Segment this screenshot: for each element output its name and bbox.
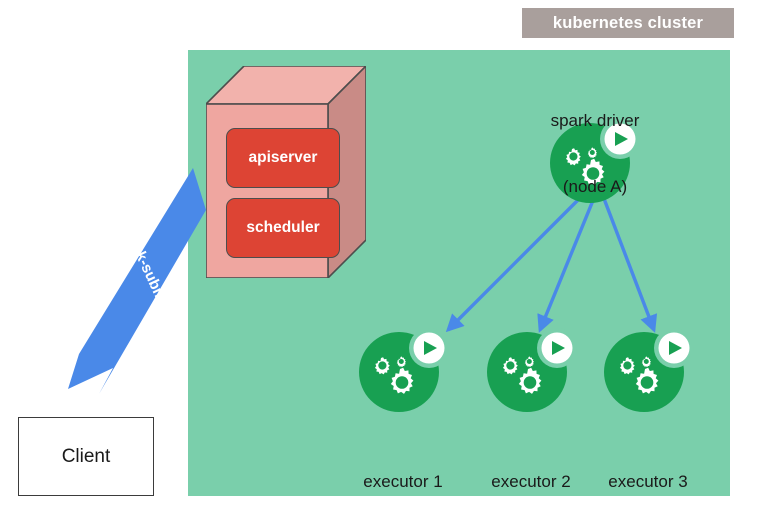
executor-3-label-line1: executor 3: [581, 471, 715, 493]
cluster-title-label: kubernetes cluster: [553, 14, 703, 33]
scheduler-component[interactable]: scheduler: [226, 198, 340, 258]
executor-2-label: executor 2 (node B): [464, 427, 598, 516]
spark-driver-label-line2: (node A): [528, 176, 662, 198]
cluster-title-chip: kubernetes cluster: [522, 8, 734, 38]
apiserver-component[interactable]: apiserver: [226, 128, 340, 188]
diagram-canvas: kubernetes cluster apiserver scheduler: [0, 0, 761, 516]
spark-driver-label: spark driver (node A): [528, 66, 662, 242]
client-label: Client: [62, 446, 111, 468]
executor-2-label-line1: executor 2: [464, 471, 598, 493]
scheduler-label: scheduler: [246, 219, 319, 237]
apiserver-label: apiserver: [249, 149, 318, 167]
executor-3-label: executor 3 (node B): [581, 427, 715, 516]
executor-3-node-icon[interactable]: [602, 327, 694, 413]
executor-1-label: executor 1 (node A): [336, 427, 470, 516]
spark-driver-label-line1: spark driver: [528, 110, 662, 132]
client-box[interactable]: Client: [18, 417, 154, 496]
executor-2-node-icon[interactable]: [485, 327, 577, 413]
executor-1-label-line1: executor 1: [336, 471, 470, 493]
executor-1-node-icon[interactable]: [357, 327, 449, 413]
